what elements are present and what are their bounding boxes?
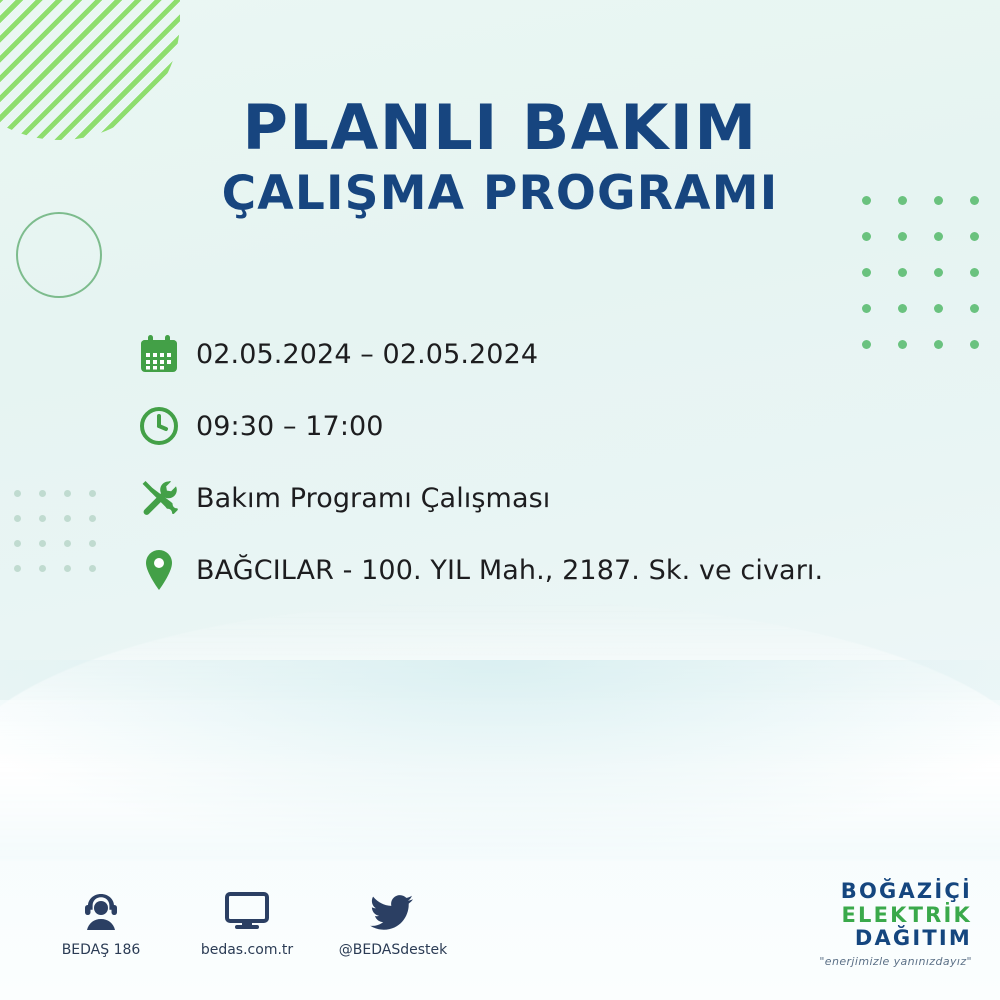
contact-twitter[interactable]: @BEDASdestek: [338, 888, 448, 958]
monitor-icon: [192, 888, 302, 934]
maintenance-details-list: 02.05.2024 – 02.05.2024 09:30 – 17:00: [138, 318, 938, 606]
work-type-text: Bakım Programı Çalışması: [196, 483, 550, 514]
page-title: PLANLI BAKIM ÇALIŞMA PROGRAMI: [0, 96, 1000, 223]
date-range-text: 02.05.2024 – 02.05.2024: [196, 339, 538, 370]
calendar-icon: [138, 333, 196, 375]
background-wave-band-secondary: [0, 660, 1000, 860]
brand-logo: BOĞAZİÇİ ELEKTRİK DAĞITIM "enerjimizle y…: [819, 880, 972, 968]
list-item-date: 02.05.2024 – 02.05.2024: [138, 318, 938, 390]
footer: BEDAŞ 186 bedas.com.tr: [0, 880, 1000, 1000]
twitter-bird-icon: [338, 888, 448, 934]
location-text: BAĞCILAR - 100. YIL Mah., 2187. Sk. ve c…: [196, 555, 823, 586]
title-line-2: ÇALIŞMA PROGRAMI: [0, 166, 1000, 222]
location-pin-icon: [138, 548, 196, 592]
list-item-work-type: Bakım Programı Çalışması: [138, 462, 938, 534]
title-line-1: PLANLI BAKIM: [0, 96, 1000, 160]
dot-grid-left-decoration: [14, 490, 114, 590]
contact-website-label: bedas.com.tr: [192, 942, 302, 958]
brand-line-2: ELEKTRİK: [819, 904, 972, 928]
planned-maintenance-poster: PLANLI BAKIM ÇALIŞMA PROGRAMI: [0, 0, 1000, 1000]
contact-list: BEDAŞ 186 bedas.com.tr: [46, 888, 448, 958]
list-item-time: 09:30 – 17:00: [138, 390, 938, 462]
brand-line-3: DAĞITIM: [819, 927, 972, 951]
contact-phone-label: BEDAŞ 186: [46, 942, 156, 958]
brand-line-1: BOĞAZİÇİ: [819, 880, 972, 904]
clock-icon: [138, 405, 196, 447]
contact-twitter-label: @BEDASdestek: [338, 942, 448, 958]
time-range-text: 09:30 – 17:00: [196, 411, 384, 442]
contact-website[interactable]: bedas.com.tr: [192, 888, 302, 958]
tools-icon: [138, 476, 196, 520]
call-center-agent-icon: [46, 888, 156, 934]
list-item-location: BAĞCILAR - 100. YIL Mah., 2187. Sk. ve c…: [138, 534, 938, 606]
contact-phone[interactable]: BEDAŞ 186: [46, 888, 156, 958]
brand-slogan: "enerjimizle yanınızdayız": [819, 956, 972, 968]
circle-outline-decoration: [16, 212, 102, 298]
